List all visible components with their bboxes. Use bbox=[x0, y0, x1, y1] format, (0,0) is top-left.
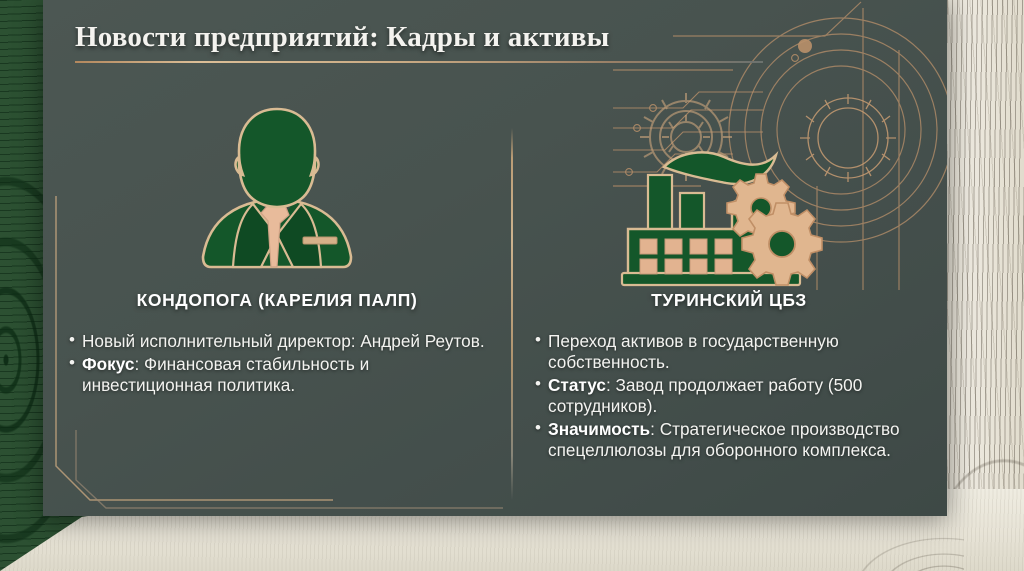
right-icon-zone bbox=[511, 96, 947, 286]
bullet-list-turinsky: Переход активов в государственную собств… bbox=[511, 331, 947, 461]
bullet-lead: Статус bbox=[548, 375, 606, 395]
page-title-block: Новости предприятий: Кадры и активы bbox=[75, 22, 763, 63]
left-icon-zone bbox=[43, 96, 511, 286]
column-heading-kondopoga: КОНДОПОГА (КАРЕЛИЯ ПАЛП) bbox=[43, 290, 511, 311]
content-card: Новости предприятий: Кадры и активы bbox=[43, 0, 947, 516]
slide-canvas: Новости предприятий: Кадры и активы bbox=[0, 0, 1024, 571]
factory-icon bbox=[620, 89, 838, 294]
businessman-icon bbox=[191, 103, 363, 273]
column-turinsky: ТУРИНСКИЙ ЦБЗ Переход активов в государс… bbox=[511, 96, 947, 508]
list-item: Переход активов в государственную собств… bbox=[535, 331, 941, 373]
title-underline bbox=[75, 61, 763, 63]
column-heading-turinsky: ТУРИНСКИЙ ЦБЗ bbox=[511, 290, 947, 311]
bullet-lead: Значимость bbox=[548, 419, 650, 439]
two-column-layout: КОНДОПОГА (КАРЕЛИЯ ПАЛП) Новый исполните… bbox=[43, 96, 947, 508]
bullet-list-kondopoga: Новый исполнительный директор: Андрей Ре… bbox=[43, 331, 511, 396]
page-title: Новости предприятий: Кадры и активы bbox=[75, 22, 763, 54]
bullet-text: Переход активов в государственную собств… bbox=[548, 331, 839, 372]
list-item: Значимость: Стратегическое производство … bbox=[535, 419, 941, 461]
list-item: Фокус: Финансовая стабильность и инвести… bbox=[69, 354, 497, 396]
bullet-text: Новый исполнительный директор: Андрей Ре… bbox=[82, 331, 485, 351]
list-item: Новый исполнительный директор: Андрей Ре… bbox=[69, 331, 497, 352]
list-item: Статус: Завод продолжает работу (500 сот… bbox=[535, 375, 941, 417]
bullet-lead: Фокус bbox=[82, 354, 134, 374]
column-kondopoga: КОНДОПОГА (КАРЕЛИЯ ПАЛП) Новый исполните… bbox=[43, 96, 511, 508]
